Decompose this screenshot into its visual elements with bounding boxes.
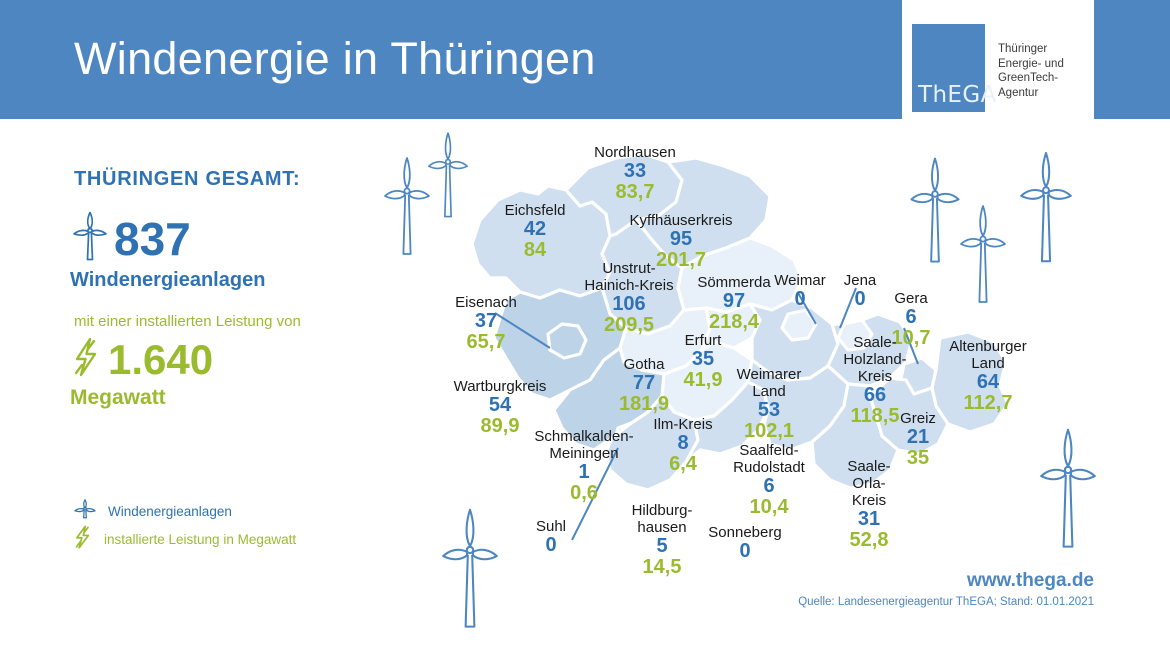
map-label-eichsfeld: Eichsfeld 42 84 [475,202,595,261]
power-intro-note: mit einer installierten Leistung von [74,313,301,330]
wind-turbine-decor-1 [384,150,430,260]
map-label-saale-orla: Saale- Orla- Kreis 31 52,8 [816,458,922,551]
thuringia-map: Nordhausen 33 83,7 Eichsfeld 42 84 Kyffh… [420,128,1120,598]
logo-subtitle-line-2: Energie- und [998,57,1064,72]
thega-logo[interactable]: ThEGA Thüringer Energie- und GreenTech- … [912,24,1092,112]
map-label-gotha: Gotha 77 181,9 [592,356,696,415]
total-power-value: 1.640 [108,339,213,381]
logo-subtitle-line-4: Agentur [998,86,1064,101]
lightning-bolt-icon [70,335,102,384]
wind-turbine-decor-5 [960,198,1006,308]
infographic-root: Windenergie in Thüringen ThEGA Thüringer… [0,0,1170,661]
wind-turbine-decor-2 [428,126,468,222]
total-turbines-label: Windenergieanlagen [70,269,400,292]
map-label-altenburger-land: Altenburger Land 64 112,7 [918,338,1058,414]
legend: Windenergieanlagen installierte Leistung… [72,497,392,553]
map-label-nordhausen: Nordhausen 33 83,7 [570,144,700,203]
map-label-sonneberg: Sonneberg 0 [686,524,804,562]
logo-wordmark: ThEGA [918,82,997,108]
legend-item-power: installierte Leistung in Megawatt [72,525,392,553]
logo-subtitle: Thüringer Energie- und GreenTech- Agentu… [998,42,1064,100]
stat-total-power: 1.640 Megawatt [70,335,400,410]
map-label-suhl: Suhl 0 [516,518,586,556]
lightning-bolt-icon [72,524,94,555]
total-power-label: Megawatt [70,386,400,410]
logo-subtitle-line-3: GreenTech- [998,71,1064,86]
wind-turbine-icon [70,210,110,267]
page-title: Windenergie in Thüringen [74,33,596,85]
total-turbines-value: 837 [114,216,191,262]
wind-turbine-icon [72,498,98,525]
wind-turbine-decor-4 [1020,144,1072,268]
logo-subtitle-line-1: Thüringer [998,42,1064,57]
legend-item-turbine-count: Windenergieanlagen [72,497,392,525]
legend-label-power: installierte Leistung in Megawatt [104,532,296,547]
wind-turbine-decor-3 [910,150,960,268]
map-label-saalfeld-rudolstadt: Saalfeld- Rudolstadt 6 10,4 [704,442,834,518]
legend-label-turbine-count: Windenergieanlagen [108,504,232,519]
wind-turbine-decor-7 [1040,420,1096,554]
wind-turbine-decor-6 [442,500,498,634]
stat-total-turbines: 837 Windenergieanlagen [70,210,400,292]
map-label-schmalkalden-meiningen: Schmalkalden- Meiningen 1 0,6 [504,428,664,504]
logo-square: ThEGA [912,24,985,112]
map-label-weimar: Weimar 0 [760,272,840,310]
map-label-eisenach: Eisenach 37 65,7 [432,294,540,353]
summary-heading: THÜRINGEN GESAMT: [74,168,300,191]
header-banner-right-accent [1094,0,1170,119]
